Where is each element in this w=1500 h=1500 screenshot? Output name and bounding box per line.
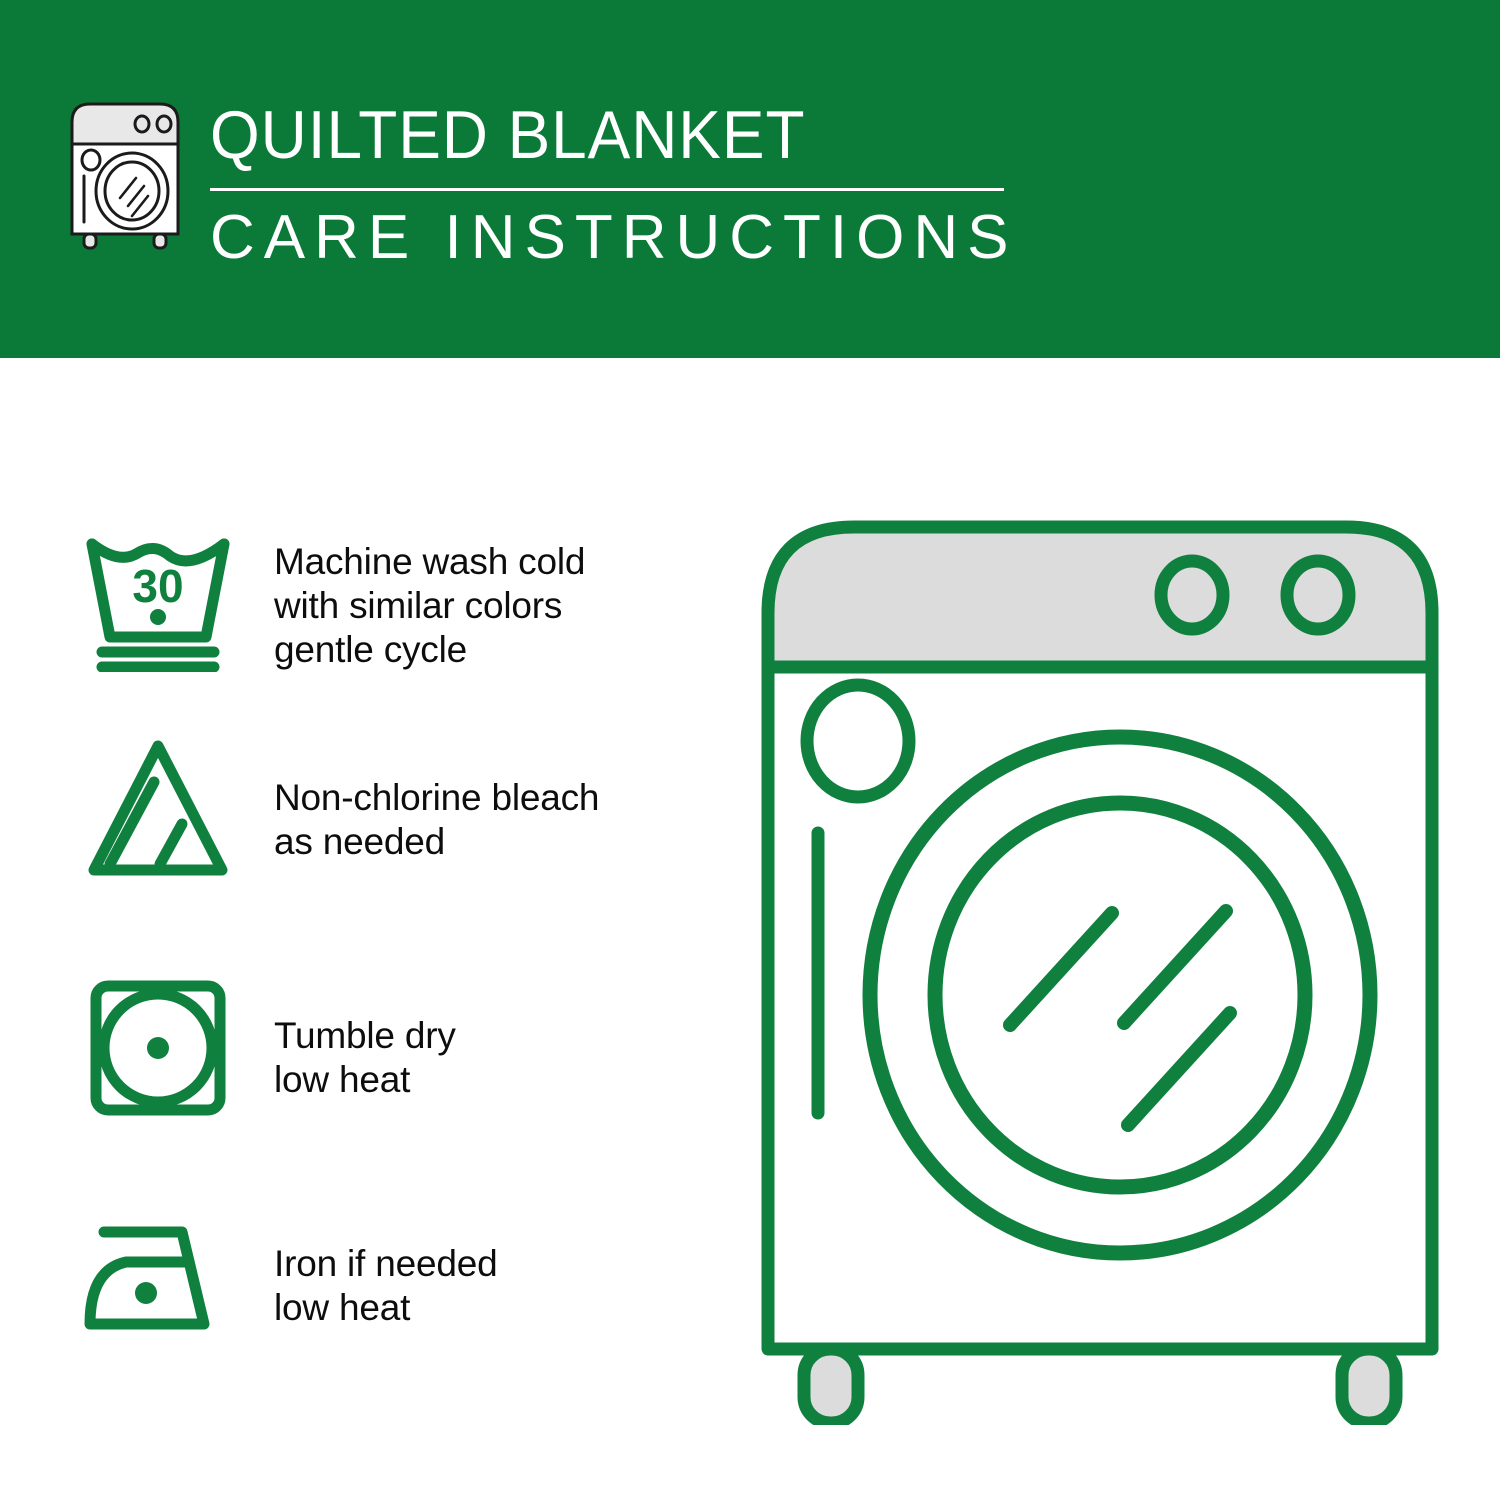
care-instruction-text: Iron if needed low heat — [274, 1200, 720, 1330]
title-divider — [210, 188, 1004, 191]
tumble-dry-low-heat-icon — [70, 968, 246, 1128]
page-title: QUILTED BLANKET — [210, 98, 969, 172]
care-text-line: with similar colors — [274, 584, 720, 628]
care-text-line: low heat — [274, 1286, 720, 1330]
wash-temperature-value: 30 — [132, 560, 183, 612]
care-text-line: Non-chlorine bleach — [274, 776, 720, 820]
header-content: QUILTED BLANKET CARE INSTRUCTIONS — [62, 96, 1017, 271]
care-instruction-item: 30 Machine wash cold with similar colors… — [0, 512, 720, 672]
non-chlorine-bleach-triangle-icon — [70, 728, 246, 888]
care-instruction-item: Tumble dry low heat — [0, 968, 720, 1128]
wash-tub-30-gentle-icon: 30 — [70, 512, 246, 672]
care-instruction-text: Non-chlorine bleach as needed — [274, 728, 720, 864]
page-header: QUILTED BLANKET CARE INSTRUCTIONS — [0, 0, 1500, 358]
care-text-line: low heat — [274, 1058, 720, 1102]
care-text-line: Iron if needed — [274, 1242, 720, 1286]
care-instruction-item: Iron if needed low heat — [0, 1200, 720, 1360]
iron-low-heat-icon — [70, 1200, 246, 1360]
washing-machine-illustration — [740, 495, 1460, 1425]
care-instruction-item: Non-chlorine bleach as needed — [0, 728, 720, 888]
care-text-line: Tumble dry — [274, 1014, 720, 1058]
care-text-line: Machine wash cold — [274, 540, 720, 584]
title-block: QUILTED BLANKET CARE INSTRUCTIONS — [210, 96, 1017, 271]
care-text-line: as needed — [274, 820, 720, 864]
page-subtitle: CARE INSTRUCTIONS — [210, 205, 1017, 271]
care-instruction-text: Tumble dry low heat — [274, 968, 720, 1102]
care-instruction-text: Machine wash cold with similar colors ge… — [274, 512, 720, 672]
care-instructions-page: QUILTED BLANKET CARE INSTRUCTIONS 30 — [0, 0, 1500, 1500]
washing-machine-icon — [62, 96, 188, 252]
care-text-line: gentle cycle — [274, 628, 720, 672]
